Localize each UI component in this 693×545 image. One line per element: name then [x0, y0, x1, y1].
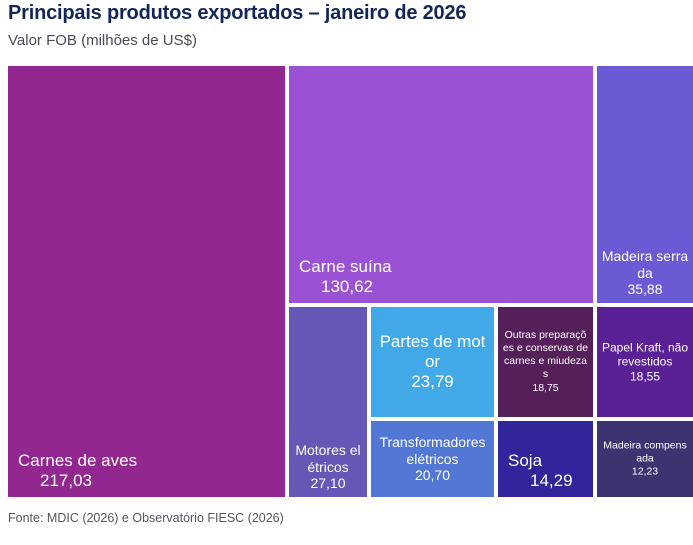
treemap-tile[interactable]: Madeira serrada35,88 [597, 66, 693, 303]
treemap-tile-value: 23,79 [375, 372, 490, 392]
treemap-tile-label: Madeira serrada35,88 [597, 248, 693, 298]
treemap-chart: Principais produtos exportados – janeiro… [0, 0, 693, 545]
treemap-tile[interactable]: Partes de motor23,79 [371, 307, 494, 417]
treemap-tile[interactable]: Motores elétricos27,10 [289, 307, 367, 497]
treemap-tile-value: 217,03 [18, 471, 137, 491]
treemap-tile-value: 18,55 [601, 369, 689, 383]
treemap-tile-value: 18,75 [502, 382, 589, 395]
treemap-tile[interactable]: Outras preparações e conservas de carnes… [498, 307, 593, 417]
treemap-tile-label: Soja14,29 [498, 451, 583, 491]
treemap-tile-label: Madeira compensada12,23 [597, 439, 693, 478]
treemap-tile-name: Carne suína [299, 257, 392, 276]
treemap-tile-label: Carne suína130,62 [289, 257, 402, 297]
treemap-tile-value: 27,10 [293, 475, 363, 492]
treemap-tile-label: Carnes de aves217,03 [8, 451, 147, 491]
treemap-tile-label: Motores elétricos27,10 [289, 442, 367, 492]
treemap-tile-name: Motores elétricos [295, 442, 360, 475]
treemap-tile-label: Transformadores elétricos20,70 [371, 434, 494, 484]
treemap-tile-name: Soja [508, 451, 542, 470]
treemap-tile[interactable]: Papel Kraft, não revestidos18,55 [597, 307, 693, 417]
treemap-tile[interactable]: Transformadores elétricos20,70 [371, 421, 494, 497]
treemap-tile-label: Partes de motor23,79 [371, 332, 494, 392]
treemap-tile-name: Madeira serrada [602, 248, 688, 281]
treemap-plot-area: Carnes de aves217,03Carne suína130,62Mad… [8, 66, 693, 497]
treemap-tile[interactable]: Madeira compensada12,23 [597, 421, 693, 497]
treemap-tile-name: Madeira compensada [603, 439, 686, 464]
treemap-tile[interactable]: Soja14,29 [498, 421, 593, 497]
treemap-tile-name: Papel Kraft, não revestidos [602, 340, 688, 368]
treemap-tile-name: Carnes de aves [18, 451, 137, 470]
treemap-tile-value: 12,23 [601, 466, 689, 479]
treemap-tile-label: Outras preparações e conservas de carnes… [498, 329, 593, 395]
treemap-tile[interactable]: Carne suína130,62 [289, 66, 593, 303]
treemap-tile-value: 35,88 [601, 281, 689, 298]
treemap-tile-name: Transformadores elétricos [379, 434, 485, 467]
chart-source-note: Fonte: MDIC (2026) e Observatório FIESC … [8, 511, 284, 525]
treemap-tile-value: 20,70 [375, 467, 490, 484]
treemap-tile-label: Papel Kraft, não revestidos18,55 [597, 340, 693, 383]
treemap-tile-value: 14,29 [508, 471, 573, 491]
chart-title: Principais produtos exportados – janeiro… [8, 2, 466, 25]
treemap-tile[interactable]: Carnes de aves217,03 [8, 66, 285, 497]
treemap-tile-name: Partes de motor [380, 332, 486, 371]
treemap-tile-value: 130,62 [299, 277, 392, 297]
chart-subtitle: Valor FOB (milhões de US$) [8, 32, 197, 49]
treemap-tile-name: Outras preparações e conservas de carnes… [503, 329, 588, 380]
